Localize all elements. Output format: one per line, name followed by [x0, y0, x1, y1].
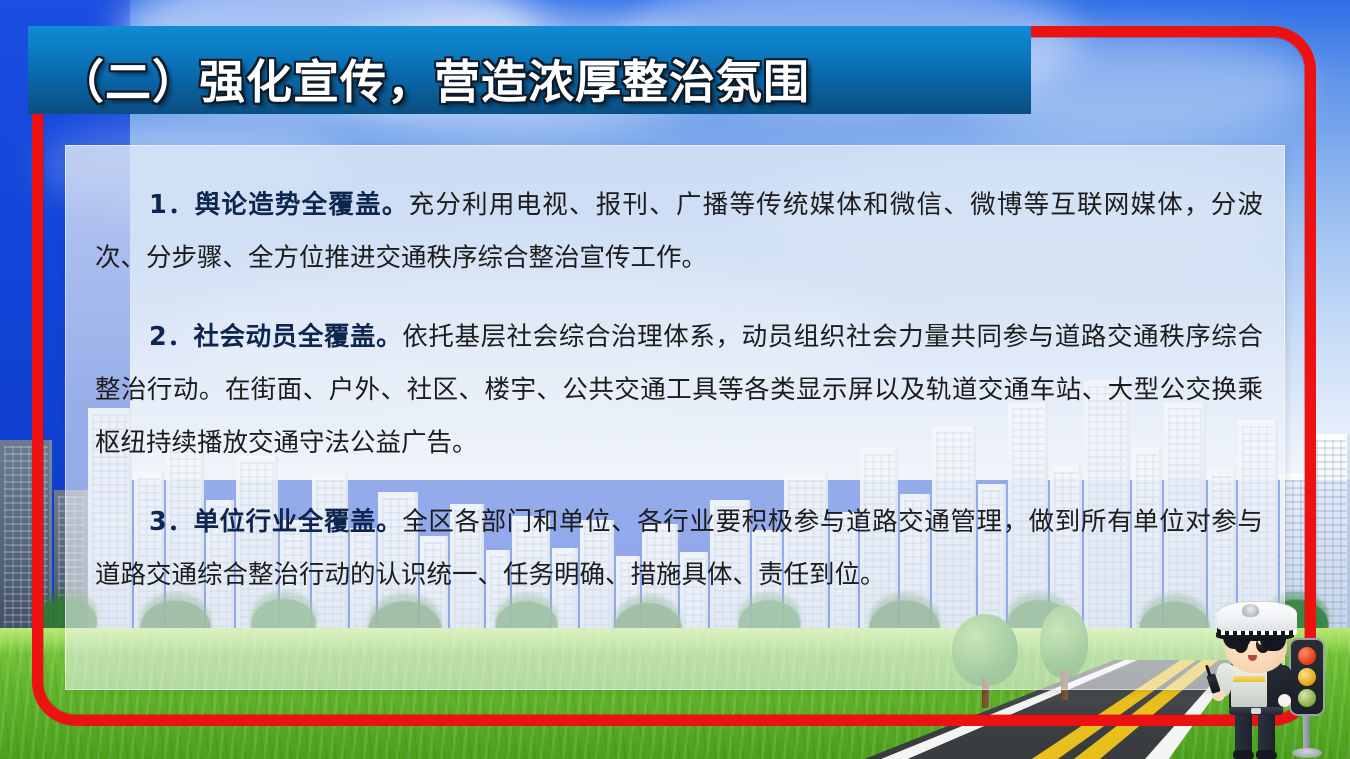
police-cap-badge-icon: [1242, 604, 1259, 617]
content-panel: 1．舆论造势全覆盖。充分利用电视、报刊、广播等传统媒体和微信、微博等互联网媒体，…: [65, 145, 1285, 690]
title-banner: （二）强化宣传，营造浓厚整治氛围: [28, 26, 1031, 114]
paragraph-3-lead: 3．单位行业全覆盖。: [149, 507, 402, 537]
traffic-police-mascot: [1206, 586, 1316, 759]
paragraph-1-lead: 1．舆论造势全覆盖。: [149, 190, 409, 220]
presentation-slide: （二）强化宣传，营造浓厚整治氛围 1．舆论造势全覆盖。充分利用电视、报刊、广播等…: [0, 0, 1350, 759]
content-body: 1．舆论造势全覆盖。充分利用电视、报刊、广播等传统媒体和微信、微博等互联网媒体，…: [95, 179, 1263, 602]
paragraph-1: 1．舆论造势全覆盖。充分利用电视、报刊、广播等传统媒体和微信、微博等互联网媒体，…: [95, 179, 1263, 285]
paragraph-2-lead: 2．社会动员全覆盖。: [149, 322, 402, 352]
page-title: （二）强化宣传，营造浓厚整治氛围: [58, 46, 810, 112]
paragraph-2: 2．社会动员全覆盖。依托基层社会综合治理体系，动员组织社会力量共同参与道路交通秩…: [95, 311, 1263, 470]
paragraph-3: 3．单位行业全覆盖。全区各部门和单位、各行业要积极参与道路交通管理，做到所有单位…: [95, 496, 1263, 602]
